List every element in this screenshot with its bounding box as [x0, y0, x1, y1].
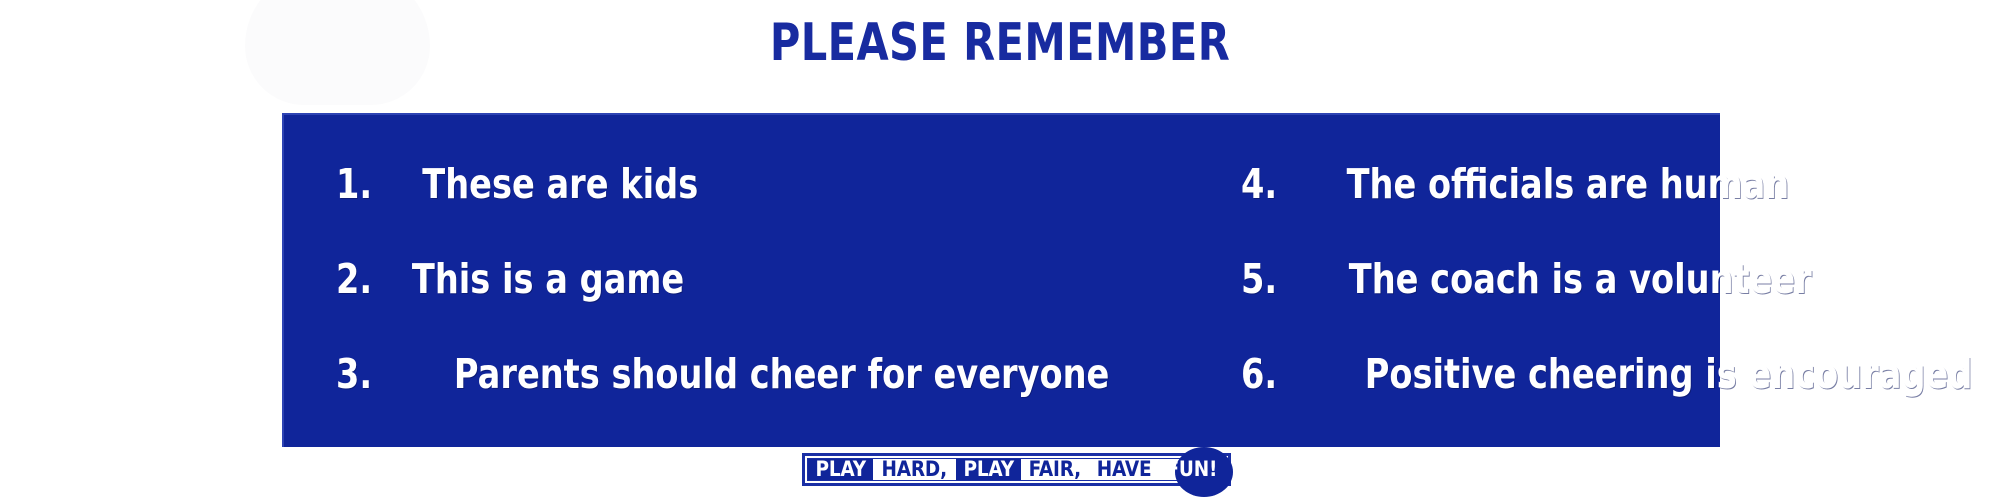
please-remember-poster: PLEASE REMEMBER 1. These are kids 2. Thi… [0, 0, 2000, 500]
slogan-segment-play-1-label: PLAY [815, 459, 866, 480]
rule-item-5: 5. The coach is a volunteer [1237, 255, 2000, 303]
rule-number-2: 2. [336, 255, 372, 303]
rule-text-6: Positive cheering is encouraged [1364, 350, 1972, 398]
rule-item-6: 6. Positive cheering is encouraged [1237, 350, 2000, 398]
rules-column-right: 4. The officials are human 5. The coach … [1181, 137, 2000, 421]
rule-item-3: 3. Parents should cheer for everyone [332, 350, 1181, 398]
rule-text-4: The officials are human [1346, 160, 1789, 208]
rule-text-2: This is a game [412, 255, 684, 303]
rule-number-1: 1. [336, 160, 372, 208]
slogan-segment-hard: HARD, [873, 459, 955, 480]
rule-item-1: 1. These are kids [332, 160, 1181, 208]
rule-item-2: 2. This is a game [332, 255, 1181, 303]
rule-item-4: 4. The officials are human [1237, 160, 2000, 208]
rule-number-6: 6. [1241, 350, 1277, 398]
rules-column-left: 1. These are kids 2. This is a game 3. P… [284, 137, 1181, 421]
slogan-badge: PLAY HARD, PLAY FAIR, HAVE FUN! [802, 453, 1231, 486]
slogan-badge-inner: PLAY HARD, PLAY FAIR, HAVE FUN! [807, 458, 1226, 481]
slogan-segment-fair-label: FAIR, [1029, 459, 1081, 480]
rule-text-5: The coach is a volunteer [1348, 255, 1811, 303]
rule-text-3: Parents should cheer for everyone [454, 350, 1109, 398]
rule-text-1: These are kids [422, 160, 698, 208]
slogan-segment-hard-label: HARD, [882, 459, 947, 480]
slogan-segment-have-label: HAVE [1097, 459, 1152, 480]
page-title: PLEASE REMEMBER [200, 14, 1800, 72]
slogan-segment-have: HAVE [1089, 459, 1159, 480]
slogan-segment-play-2-label: PLAY [963, 459, 1014, 480]
slogan-segment-fun: FUN! [1159, 459, 1225, 480]
rule-number-5: 5. [1241, 255, 1277, 303]
rules-panel: 1. These are kids 2. This is a game 3. P… [282, 113, 1720, 447]
rule-number-4: 4. [1241, 160, 1277, 208]
rule-number-3: 3. [336, 350, 372, 398]
slogan-segment-fun-label: FUN! [1166, 459, 1217, 480]
slogan-segment-fair: FAIR, [1021, 459, 1089, 480]
slogan-segment-play-2: PLAY [956, 459, 1021, 480]
slogan-segment-play-1: PLAY [808, 459, 873, 480]
